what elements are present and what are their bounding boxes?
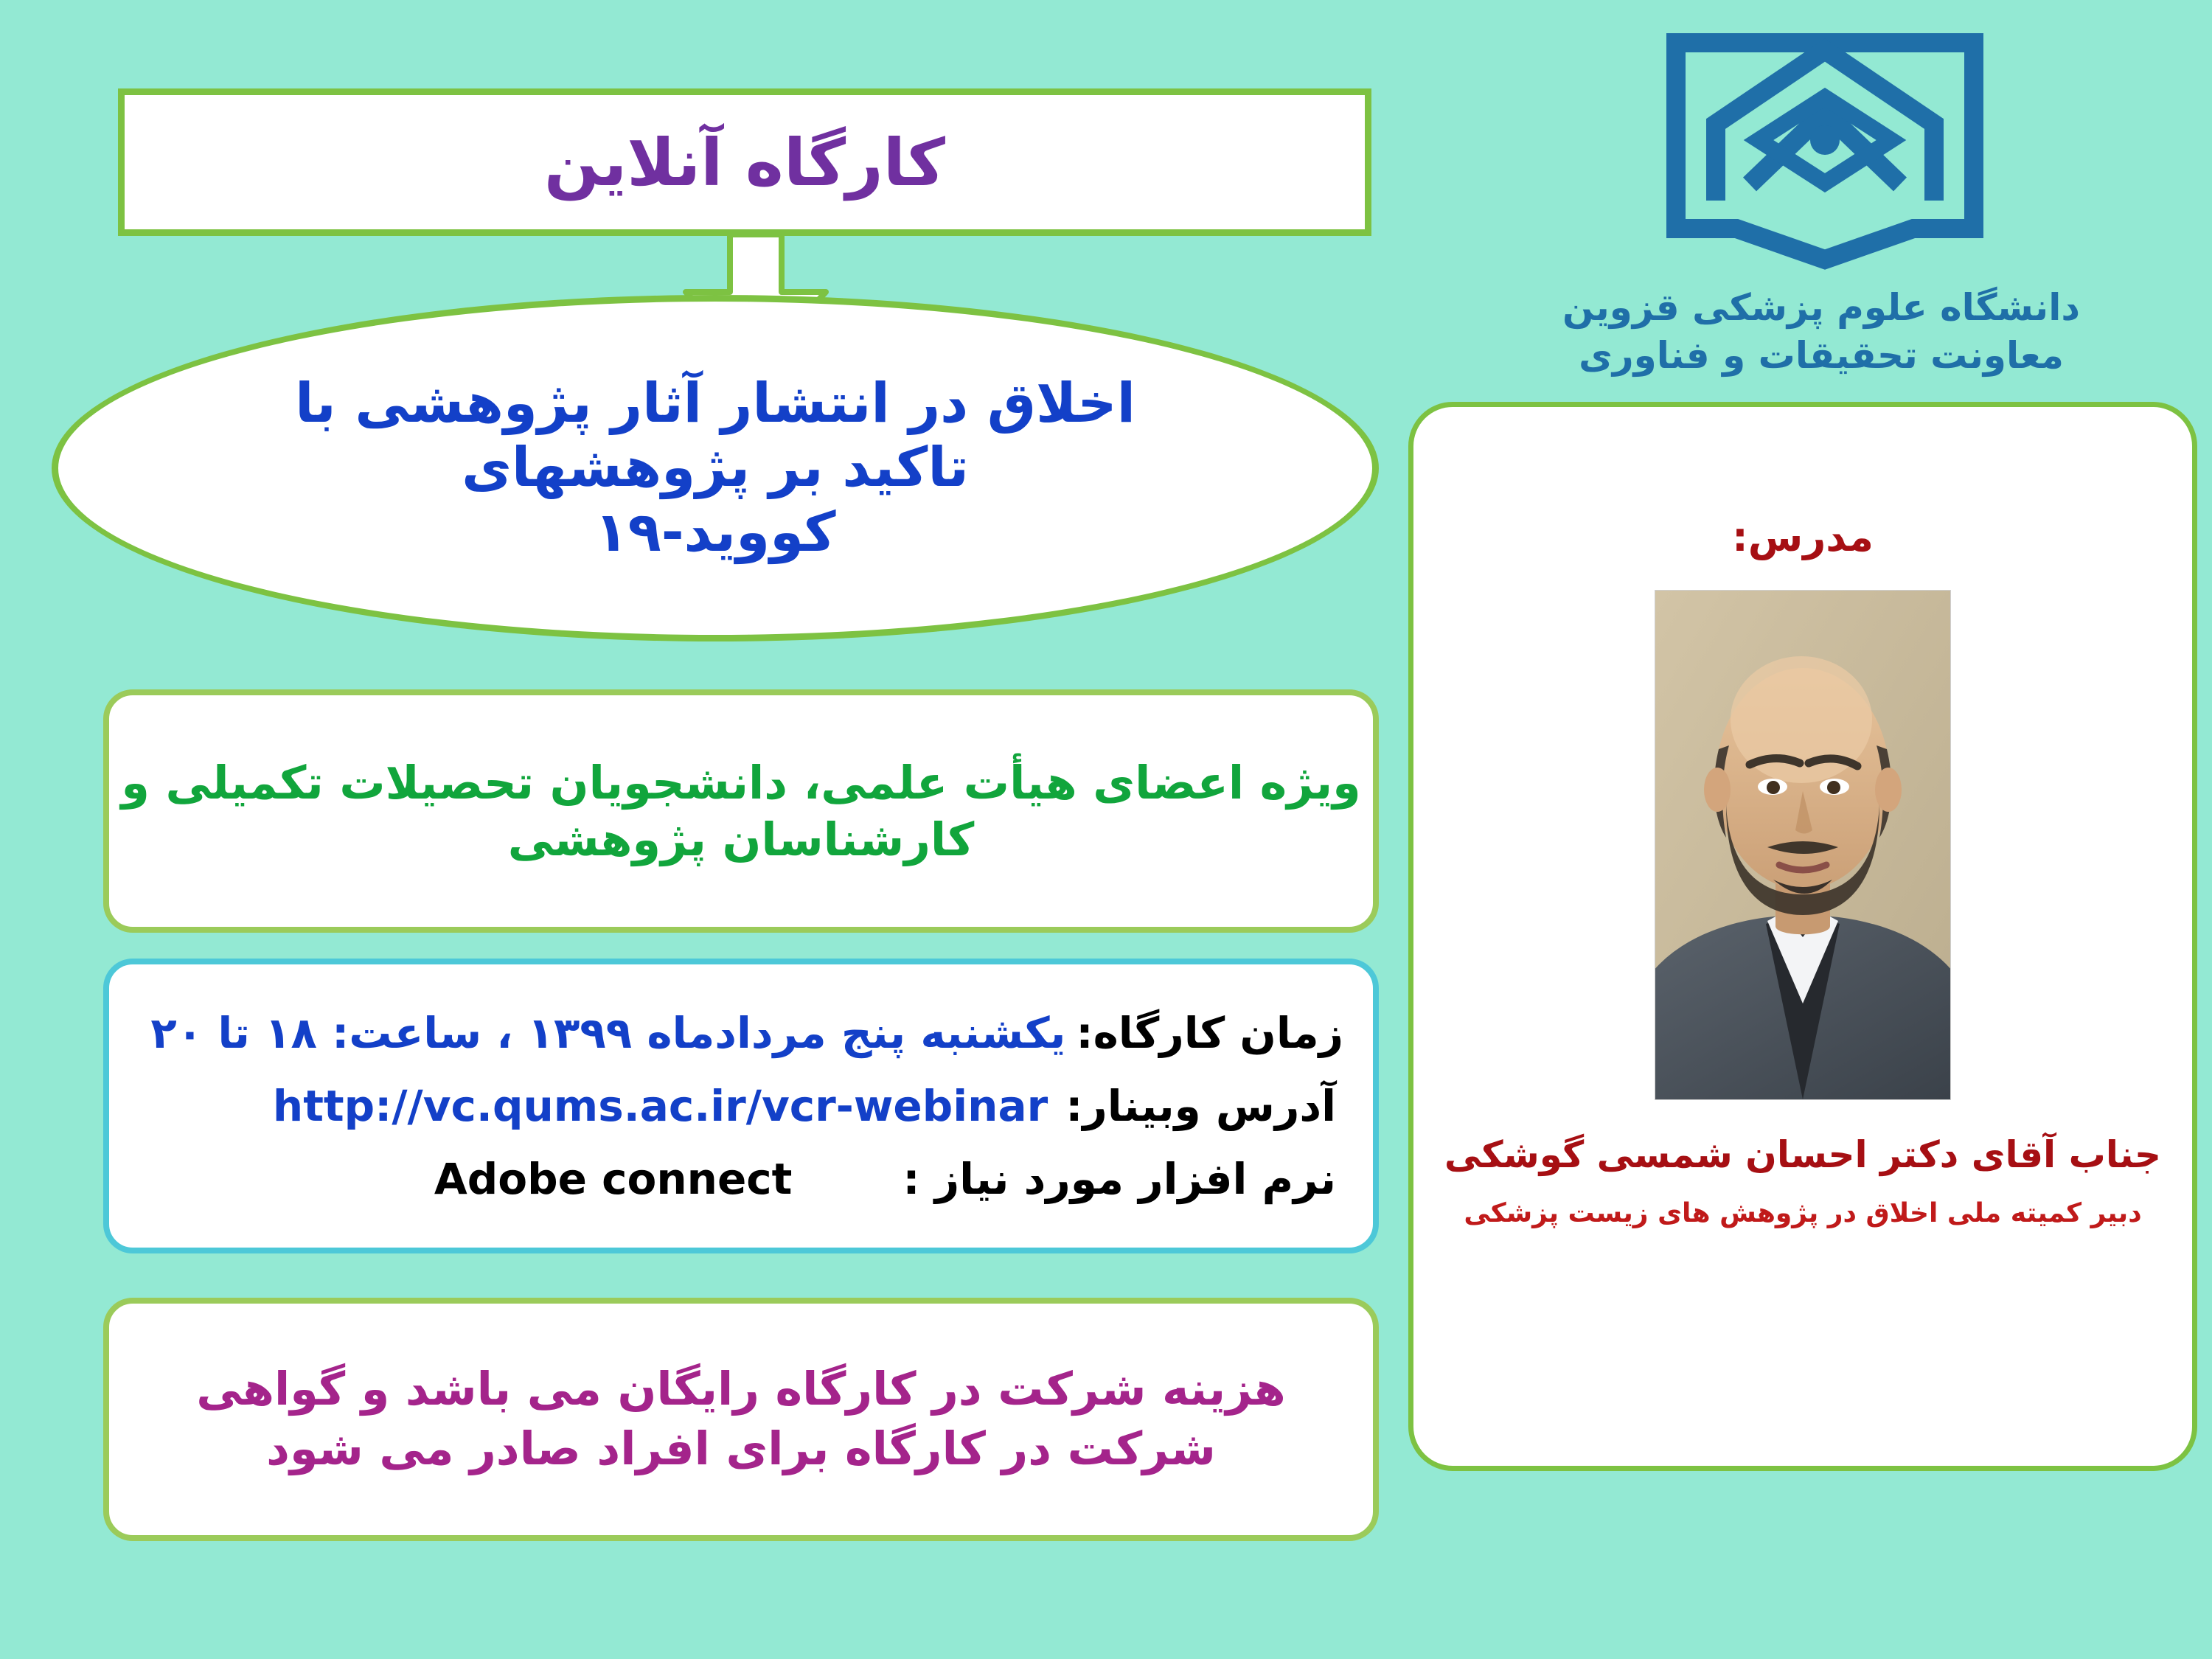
instructor-label: مدرس: xyxy=(1732,514,1874,560)
details-box: زمان کارگاه: یکشنبه پنج مردادماه ۱۳۹۹ ، … xyxy=(103,959,1379,1253)
university-name-line-2: معاونت تحقیقات و فناوری xyxy=(1445,332,2197,380)
webinar-url-label: آدرس وبینار: xyxy=(1065,1081,1336,1131)
instructor-portrait xyxy=(1655,590,1951,1100)
audience-box: ویژه اعضای هیأت علمی، دانشجویان تحصیلات … xyxy=(103,689,1379,933)
banner-title: کارگاه آنلاین xyxy=(544,125,945,201)
cost-line-2: شرکت در کارگاه برای افراد صادر می شود xyxy=(266,1419,1216,1479)
university-name-line-1: دانشگاه علوم پزشکی قزوین xyxy=(1445,284,2197,332)
online-workshop-banner: کارگاه آنلاین xyxy=(118,88,1371,236)
details-row-time: زمان کارگاه: یکشنبه پنج مردادماه ۱۳۹۹ ، … xyxy=(139,1008,1343,1058)
time-value: یکشنبه پنج مردادماه ۱۳۹۹ ، ساعت: ۱۸ تا ۲… xyxy=(150,1008,1065,1058)
details-row-software: نرم افزار مورد نیاز : Adobe connect xyxy=(131,1154,1343,1204)
audience-line-1: ویژه اعضای هیأت علمی، دانشجویان تحصیلات … xyxy=(121,754,1360,812)
university-name-block: دانشگاه علوم پزشکی قزوین معاونت تحقیقات … xyxy=(1445,284,2197,380)
instructor-role: دبیر کمیته ملی اخلاق در پژوهش های زیست پ… xyxy=(1464,1198,2141,1228)
audience-line-2: کارشناسان پژوهشی xyxy=(508,811,975,869)
cost-line-1: هزینه شرکت در کارگاه رایگان می باشد و گو… xyxy=(196,1360,1286,1419)
workshop-title-ellipse: اخلاق در انتشار آثار پژوهشی با تاکید بر … xyxy=(52,295,1379,641)
workshop-title-line-3: کووید-۱۹ xyxy=(595,501,836,565)
time-label: زمان کارگاه: xyxy=(1076,1008,1343,1058)
software-value: Adobe connect xyxy=(434,1154,793,1204)
software-label: نرم افزار مورد نیاز : xyxy=(902,1154,1336,1204)
webinar-url-link[interactable]: http://vc.qums.ac.ir/vcr-webinar xyxy=(273,1081,1048,1131)
instructor-name: جناب آقای دکتر احسان شمسی گوشکی xyxy=(1444,1133,2161,1176)
instructor-panel: مدرس: xyxy=(1408,402,2197,1471)
cost-box: هزینه شرکت در کارگاه رایگان می باشد و گو… xyxy=(103,1298,1379,1541)
open-book-diamond-logo-icon xyxy=(1663,29,1987,273)
workshop-title-line-2: تاکید بر پژوهشهای xyxy=(462,436,969,500)
poster-canvas: کارگاه آنلاین اخلاق در انتشار آثار پژوهش… xyxy=(0,0,2212,1659)
details-row-webinar-url: آدرس وبینار: http://vc.qums.ac.ir/vcr-we… xyxy=(131,1081,1343,1131)
workshop-title-line-1: اخلاق در انتشار آثار پژوهشی با xyxy=(295,372,1135,436)
